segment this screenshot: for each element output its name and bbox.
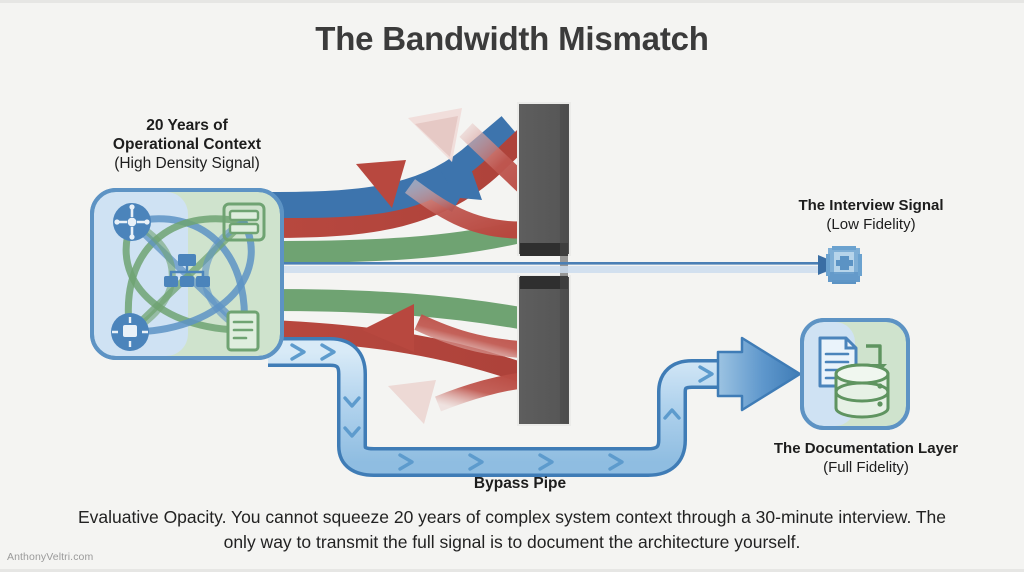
diagram-canvas: The Bandwidth Mismatch 20 Years of Opera… [0, 0, 1024, 572]
source-context-label: 20 Years of Operational Context (High De… [92, 116, 282, 174]
documentation-layer-title: The Documentation Layer [716, 440, 1016, 459]
bypass-pipe-label: Bypass Pipe [395, 474, 645, 493]
source-context-sub: (High Density Signal) [92, 154, 282, 173]
documentation-layer-sub: (Full Fidelity) [716, 459, 1016, 478]
caption-line1: Evaluative Opacity. You cannot squeeze 2… [78, 507, 834, 527]
interview-signal-title: The Interview Signal [742, 197, 1000, 216]
documentation-layer-label: The Documentation Layer (Full Fidelity) [716, 440, 1016, 477]
watermark: AnthonyVeltri.com [7, 551, 93, 563]
interview-signal-label: The Interview Signal (Low Fidelity) [742, 197, 1000, 234]
page-title: The Bandwidth Mismatch [0, 20, 1024, 58]
interview-signal-sub: (Low Fidelity) [742, 216, 1000, 235]
document-node [228, 312, 258, 350]
source-context-box [92, 190, 282, 358]
documentation-layer-icon [802, 320, 908, 428]
source-context-line1: 20 Years of [92, 116, 282, 135]
interview-signal-icon [826, 246, 862, 284]
caption: Evaluative Opacity. You cannot squeeze 2… [72, 505, 952, 556]
source-context-line2: Operational Context [92, 135, 282, 154]
